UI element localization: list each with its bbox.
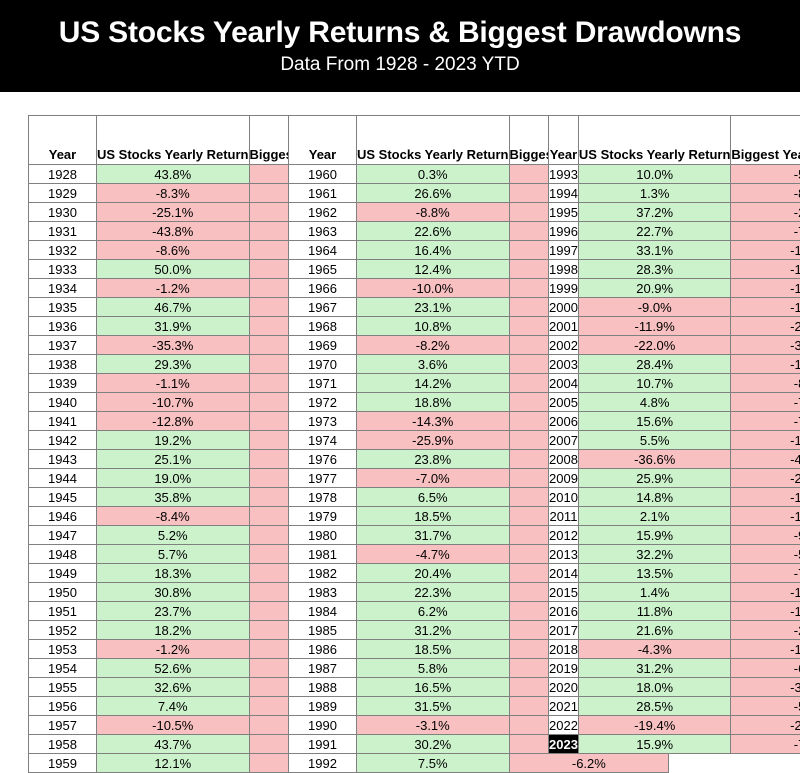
title-banner: US Stocks Yearly Returns & Biggest Drawd…	[0, 0, 800, 92]
cell-biggest-drawdown: -8.9%	[731, 184, 800, 203]
cell-yearly-return: 43.8%	[97, 165, 250, 184]
cell-year: 2021	[549, 697, 579, 716]
cell-biggest-drawdown: -6.8%	[731, 659, 800, 678]
cell-year: 1952	[29, 621, 97, 640]
cell-yearly-return: 4.8%	[578, 393, 731, 412]
cell-biggest-drawdown: -48.8%	[731, 450, 800, 469]
cell-biggest-drawdown: -10.5%	[731, 602, 800, 621]
cell-yearly-return: 30.8%	[97, 583, 250, 602]
cell-yearly-return: 5.2%	[97, 526, 250, 545]
cell-yearly-return: 3.6%	[357, 355, 510, 374]
cell-year: 2000	[549, 298, 579, 317]
cell-biggest-drawdown: -14.1%	[731, 355, 800, 374]
cell-year: 1997	[549, 241, 579, 260]
cell-year: 1984	[289, 602, 357, 621]
cell-yearly-return: -4.7%	[357, 545, 510, 564]
cell-yearly-return: 31.7%	[357, 526, 510, 545]
cell-yearly-return: 29.3%	[97, 355, 250, 374]
cell-year: 1935	[29, 298, 97, 317]
cell-yearly-return: -25.9%	[357, 431, 510, 450]
cell-year: 1972	[289, 393, 357, 412]
cell-year: 1964	[289, 241, 357, 260]
table-row: 202315.9%-7.8%	[549, 735, 800, 754]
cell-yearly-return: -8.2%	[357, 336, 510, 355]
cell-year: 2011	[549, 507, 579, 526]
cell-yearly-return: 18.8%	[357, 393, 510, 412]
cell-year: 2018	[549, 640, 579, 659]
table-row: 20151.4%-12.4%	[549, 583, 800, 602]
cell-biggest-drawdown: -19.3%	[731, 260, 800, 279]
cell-year: 2009	[549, 469, 579, 488]
cell-yearly-return: 11.8%	[578, 602, 731, 621]
cell-yearly-return: 23.8%	[357, 450, 510, 469]
cell-year: 1979	[289, 507, 357, 526]
table-row: 20054.8%-7.2%	[549, 393, 800, 412]
cell-year: 2003	[549, 355, 579, 374]
cell-year: 2004	[549, 374, 579, 393]
cell-yearly-return: 50.0%	[97, 260, 250, 279]
cell-yearly-return: 35.8%	[97, 488, 250, 507]
cell-year: 1933	[29, 260, 97, 279]
cell-year: 1954	[29, 659, 97, 678]
header-row: Year US Stocks Yearly Return Biggest Yea…	[549, 116, 800, 165]
cell-yearly-return: -22.0%	[578, 336, 731, 355]
cell-year: 1967	[289, 298, 357, 317]
table-row: 201014.8%-16.0%	[549, 488, 800, 507]
cell-year: 1938	[29, 355, 97, 374]
cell-year: 1982	[289, 564, 357, 583]
table-row: 199828.3%-19.3%	[549, 260, 800, 279]
cell-year: 1956	[29, 697, 97, 716]
cell-yearly-return: 26.6%	[357, 184, 510, 203]
cell-biggest-drawdown: -5.2%	[731, 697, 800, 716]
cell-year: 2005	[549, 393, 579, 412]
cell-year: 1937	[29, 336, 97, 355]
cell-year: 1957	[29, 716, 97, 735]
table-row: 201413.5%-7.4%	[549, 564, 800, 583]
cell-biggest-drawdown: -6.2%	[509, 754, 669, 773]
cell-year: 1993	[549, 165, 579, 184]
table-row: 201215.9%-9.9%	[549, 526, 800, 545]
table-row: 201611.8%-10.5%	[549, 602, 800, 621]
cell-yearly-return: -8.4%	[97, 507, 250, 526]
cell-yearly-return: -11.9%	[578, 317, 731, 336]
cell-year: 1936	[29, 317, 97, 336]
cell-year: 1940	[29, 393, 97, 412]
cell-year: 1950	[29, 583, 97, 602]
cell-year: 1978	[289, 488, 357, 507]
cell-yearly-return: 5.5%	[578, 431, 731, 450]
cell-yearly-return: 28.4%	[578, 355, 731, 374]
cell-yearly-return: 14.8%	[578, 488, 731, 507]
cell-year: 1930	[29, 203, 97, 222]
cell-year: 2012	[549, 526, 579, 545]
cell-year: 1943	[29, 450, 97, 469]
cell-biggest-drawdown: -2.5%	[731, 203, 800, 222]
cell-year: 1953	[29, 640, 97, 659]
cell-year: 1951	[29, 602, 97, 621]
table-row: 2018-4.3%-19.8%	[549, 640, 800, 659]
cell-yearly-return: -7.0%	[357, 469, 510, 488]
cell-yearly-return: 31.5%	[357, 697, 510, 716]
column-header-drawdown: Biggest Yearly Drawdown	[731, 116, 800, 165]
table-row: 19927.5%-6.2%	[289, 754, 669, 773]
cell-yearly-return: 22.3%	[357, 583, 510, 602]
cell-yearly-return: 2.1%	[578, 507, 731, 526]
cell-year: 2001	[549, 317, 579, 336]
cell-year: 2017	[549, 621, 579, 640]
cell-year: 2008	[549, 450, 579, 469]
cell-biggest-drawdown: -29.7%	[731, 317, 800, 336]
cell-yearly-return: 5.8%	[357, 659, 510, 678]
cell-yearly-return: -12.8%	[97, 412, 250, 431]
cell-biggest-drawdown: -19.4%	[731, 507, 800, 526]
cell-yearly-return: -10.0%	[357, 279, 510, 298]
cell-yearly-return: -10.7%	[97, 393, 250, 412]
cell-yearly-return: -14.3%	[357, 412, 510, 431]
cell-yearly-return: 30.2%	[357, 735, 510, 754]
cell-year: 1980	[289, 526, 357, 545]
cell-year: 1944	[29, 469, 97, 488]
cell-yearly-return: 32.2%	[578, 545, 731, 564]
page-title: US Stocks Yearly Returns & Biggest Drawd…	[0, 14, 800, 52]
cell-yearly-return: -25.1%	[97, 203, 250, 222]
cell-yearly-return: -1.2%	[97, 279, 250, 298]
table-row: 2022-19.4%-25.4%	[549, 716, 800, 735]
cell-year: 1939	[29, 374, 97, 393]
cell-year: 1989	[289, 697, 357, 716]
cell-biggest-drawdown: -7.6%	[731, 222, 800, 241]
cell-biggest-drawdown: -10.1%	[731, 431, 800, 450]
cell-yearly-return: 10.8%	[357, 317, 510, 336]
cell-year: 1945	[29, 488, 97, 507]
cell-year: 1976	[289, 450, 357, 469]
cell-year: 1981	[289, 545, 357, 564]
returns-table-3: Year US Stocks Yearly Return Biggest Yea…	[548, 115, 800, 754]
cell-yearly-return: 18.5%	[357, 640, 510, 659]
cell-yearly-return: 6.5%	[357, 488, 510, 507]
cell-yearly-return: -1.1%	[97, 374, 250, 393]
cell-yearly-return: 18.0%	[578, 678, 731, 697]
cell-year: 1966	[289, 279, 357, 298]
cell-yearly-return: 46.7%	[97, 298, 250, 317]
cell-biggest-drawdown: -7.8%	[731, 735, 800, 754]
cell-year: 1929	[29, 184, 97, 203]
cell-year: 1985	[289, 621, 357, 640]
cell-yearly-return: 31.2%	[578, 659, 731, 678]
cell-yearly-return: 33.1%	[578, 241, 731, 260]
cell-year: 2006	[549, 412, 579, 431]
cell-biggest-drawdown: -33.9%	[731, 678, 800, 697]
table-row: 199537.2%-2.5%	[549, 203, 800, 222]
cell-yearly-return: 25.9%	[578, 469, 731, 488]
tables-area: Year US Stocks Yearly Return Biggest Yea…	[0, 92, 800, 768]
cell-biggest-drawdown: -16.0%	[731, 488, 800, 507]
cell-yearly-return: 19.0%	[97, 469, 250, 488]
cell-yearly-return: -1.2%	[97, 640, 250, 659]
cell-year: 2010	[549, 488, 579, 507]
cell-yearly-return: 31.2%	[357, 621, 510, 640]
cell-yearly-return: -3.1%	[357, 716, 510, 735]
cell-yearly-return: 43.7%	[97, 735, 250, 754]
table-row: 19941.3%-8.9%	[549, 184, 800, 203]
cell-yearly-return: 22.7%	[578, 222, 731, 241]
table-row: 2000-9.0%-17.2%	[549, 298, 800, 317]
cell-year: 1931	[29, 222, 97, 241]
page-subtitle: Data From 1928 - 2023 YTD	[0, 52, 800, 78]
cell-yearly-return: 10.0%	[578, 165, 731, 184]
cell-yearly-return: -8.3%	[97, 184, 250, 203]
cell-year: 2019	[549, 659, 579, 678]
cell-year: 1995	[549, 203, 579, 222]
cell-yearly-return: 12.1%	[97, 754, 250, 773]
cell-year: 1928	[29, 165, 97, 184]
cell-biggest-drawdown: -8.2%	[731, 374, 800, 393]
cell-year: 1965	[289, 260, 357, 279]
cell-year: 1934	[29, 279, 97, 298]
cell-year: 1946	[29, 507, 97, 526]
table-row: 199920.9%-12.1%	[549, 279, 800, 298]
cell-yearly-return: -36.6%	[578, 450, 731, 469]
table-row: 202128.5%-5.2%	[549, 697, 800, 716]
cell-year: 1983	[289, 583, 357, 602]
table-row: 200328.4%-14.1%	[549, 355, 800, 374]
cell-year: 1955	[29, 678, 97, 697]
table-row: 202018.0%-33.9%	[549, 678, 800, 697]
cell-year: 2007	[549, 431, 579, 450]
cell-year: 1949	[29, 564, 97, 583]
cell-biggest-drawdown: -25.4%	[731, 716, 800, 735]
cell-yearly-return: 18.3%	[97, 564, 250, 583]
cell-year: 1998	[549, 260, 579, 279]
cell-yearly-return: -43.8%	[97, 222, 250, 241]
cell-year: 1963	[289, 222, 357, 241]
table-header: Year US Stocks Yearly Return Biggest Yea…	[549, 116, 800, 165]
cell-year: 1932	[29, 241, 97, 260]
cell-yearly-return: 7.5%	[357, 754, 510, 773]
cell-year: 1996	[549, 222, 579, 241]
cell-yearly-return: 52.6%	[97, 659, 250, 678]
column-header-return: US Stocks Yearly Return	[357, 116, 510, 165]
cell-yearly-return: 13.5%	[578, 564, 731, 583]
cell-yearly-return: 23.7%	[97, 602, 250, 621]
cell-year: 1941	[29, 412, 97, 431]
cell-yearly-return: 1.3%	[578, 184, 731, 203]
cell-year: 1986	[289, 640, 357, 659]
cell-year: 2016	[549, 602, 579, 621]
table-row: 2008-36.6%-48.8%	[549, 450, 800, 469]
cell-biggest-drawdown: -27.6%	[731, 469, 800, 488]
cell-biggest-drawdown: -12.1%	[731, 279, 800, 298]
cell-biggest-drawdown: -7.2%	[731, 393, 800, 412]
cell-yearly-return: -4.3%	[578, 640, 731, 659]
cell-year: 1990	[289, 716, 357, 735]
cell-year: 1942	[29, 431, 97, 450]
cell-yearly-return: 6.2%	[357, 602, 510, 621]
cell-yearly-return: 15.9%	[578, 735, 731, 754]
cell-year: 2013	[549, 545, 579, 564]
cell-year: 2014	[549, 564, 579, 583]
cell-biggest-drawdown: -12.4%	[731, 583, 800, 602]
cell-yearly-return: 18.5%	[357, 507, 510, 526]
cell-yearly-return: 16.5%	[357, 678, 510, 697]
cell-year: 2020	[549, 678, 579, 697]
table-row: 201931.2%-6.8%	[549, 659, 800, 678]
column-header-year: Year	[289, 116, 357, 165]
cell-year: 1994	[549, 184, 579, 203]
cell-year: 1958	[29, 735, 97, 754]
cell-biggest-drawdown: -19.8%	[731, 640, 800, 659]
cell-year: 1960	[289, 165, 357, 184]
cell-yearly-return: -8.8%	[357, 203, 510, 222]
cell-year: 1992	[289, 754, 357, 773]
cell-yearly-return: 5.7%	[97, 545, 250, 564]
cell-yearly-return: 15.6%	[578, 412, 731, 431]
table-row: 2001-11.9%-29.7%	[549, 317, 800, 336]
cell-yearly-return: 37.2%	[578, 203, 731, 222]
cell-yearly-return: 28.5%	[578, 697, 731, 716]
cell-yearly-return: 12.4%	[357, 260, 510, 279]
cell-yearly-return: 10.7%	[578, 374, 731, 393]
table-row: 199310.0%-5.0%	[549, 165, 800, 184]
cell-yearly-return: -35.3%	[97, 336, 250, 355]
table-row: 200925.9%-27.6%	[549, 469, 800, 488]
cell-biggest-drawdown: -7.7%	[731, 412, 800, 431]
cell-yearly-return: -19.4%	[578, 716, 731, 735]
cell-biggest-drawdown: -5.8%	[731, 545, 800, 564]
table-row: 200410.7%-8.2%	[549, 374, 800, 393]
table-row: 200615.6%-7.7%	[549, 412, 800, 431]
cell-year: 1969	[289, 336, 357, 355]
cell-biggest-drawdown: -10.8%	[731, 241, 800, 260]
cell-biggest-drawdown: -5.0%	[731, 165, 800, 184]
cell-yearly-return: 16.4%	[357, 241, 510, 260]
table-body: 199310.0%-5.0%19941.3%-8.9%199537.2%-2.5…	[549, 165, 800, 754]
cell-year: 1970	[289, 355, 357, 374]
cell-yearly-return: 23.1%	[357, 298, 510, 317]
cell-yearly-return: 31.9%	[97, 317, 250, 336]
cell-yearly-return: 19.2%	[97, 431, 250, 450]
table-row: 201721.6%-2.8%	[549, 621, 800, 640]
cell-year: 1947	[29, 526, 97, 545]
table-row: 199622.7%-7.6%	[549, 222, 800, 241]
cell-year: 1948	[29, 545, 97, 564]
cell-yearly-return: -8.6%	[97, 241, 250, 260]
cell-year: 1962	[289, 203, 357, 222]
cell-year: 1959	[29, 754, 97, 773]
cell-yearly-return: 21.6%	[578, 621, 731, 640]
cell-year: 1988	[289, 678, 357, 697]
cell-year: 1991	[289, 735, 357, 754]
cell-year: 1987	[289, 659, 357, 678]
column-header-year: Year	[549, 116, 579, 165]
table-row: 199733.1%-10.8%	[549, 241, 800, 260]
cell-year: 1968	[289, 317, 357, 336]
table-row: 201332.2%-5.8%	[549, 545, 800, 564]
column-header-return: US Stocks Yearly Return	[578, 116, 731, 165]
cell-yearly-return: 20.4%	[357, 564, 510, 583]
cell-year: 2015	[549, 583, 579, 602]
cell-yearly-return: -10.5%	[97, 716, 250, 735]
cell-yearly-return: 1.4%	[578, 583, 731, 602]
cell-yearly-return: 0.3%	[357, 165, 510, 184]
cell-yearly-return: 14.2%	[357, 374, 510, 393]
cell-year: 1961	[289, 184, 357, 203]
cell-year: 1999	[549, 279, 579, 298]
cell-year: 1974	[289, 431, 357, 450]
cell-yearly-return: 28.3%	[578, 260, 731, 279]
cell-yearly-return: 32.6%	[97, 678, 250, 697]
cell-yearly-return: 25.1%	[97, 450, 250, 469]
column-header-year: Year	[29, 116, 97, 165]
cell-yearly-return: 7.4%	[97, 697, 250, 716]
cell-biggest-drawdown: -2.8%	[731, 621, 800, 640]
cell-year: 2002	[549, 336, 579, 355]
cell-biggest-drawdown: -9.9%	[731, 526, 800, 545]
cell-yearly-return: -9.0%	[578, 298, 731, 317]
table-row: 2002-22.0%-33.8%	[549, 336, 800, 355]
table-row: 20112.1%-19.4%	[549, 507, 800, 526]
cell-yearly-return: 15.9%	[578, 526, 731, 545]
cell-year: 2022	[549, 716, 579, 735]
cell-biggest-drawdown: -17.2%	[731, 298, 800, 317]
column-header-return: US Stocks Yearly Return	[97, 116, 250, 165]
cell-yearly-return: 18.2%	[97, 621, 250, 640]
cell-year: 1973	[289, 412, 357, 431]
cell-biggest-drawdown: -7.4%	[731, 564, 800, 583]
cell-year: 1977	[289, 469, 357, 488]
cell-year: 1971	[289, 374, 357, 393]
cell-biggest-drawdown: -33.8%	[731, 336, 800, 355]
cell-yearly-return: 20.9%	[578, 279, 731, 298]
cell-yearly-return: 22.6%	[357, 222, 510, 241]
cell-year: 2023	[549, 735, 579, 754]
table-row: 20075.5%-10.1%	[549, 431, 800, 450]
